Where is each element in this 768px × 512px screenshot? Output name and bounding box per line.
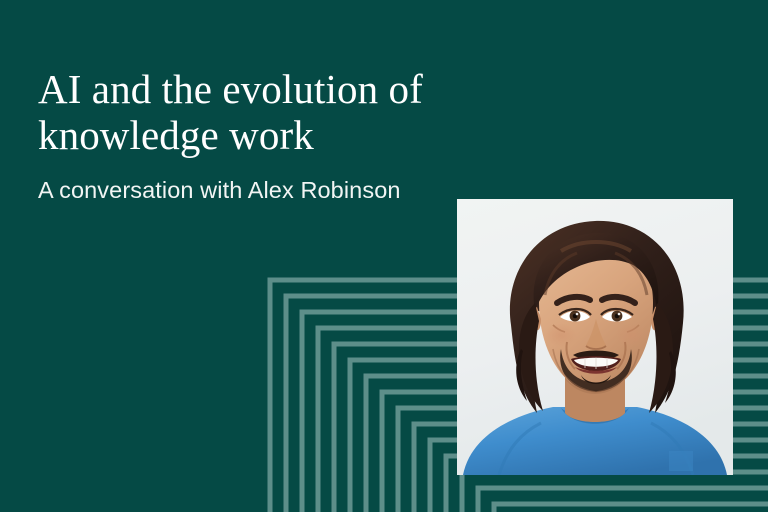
- headline-block: AI and the evolution of knowledge work A…: [38, 66, 468, 204]
- corner-bracket-line: [462, 472, 768, 512]
- corner-bracket-line: [478, 488, 768, 512]
- promo-card: AI and the evolution of knowledge work A…: [0, 0, 768, 512]
- page-title: AI and the evolution of knowledge work: [38, 66, 468, 158]
- page-subtitle: A conversation with Alex Robinson: [38, 176, 468, 204]
- speaker-portrait-photo: [457, 199, 733, 475]
- portrait-illustration: [457, 199, 733, 475]
- corner-bracket-line: [494, 504, 768, 512]
